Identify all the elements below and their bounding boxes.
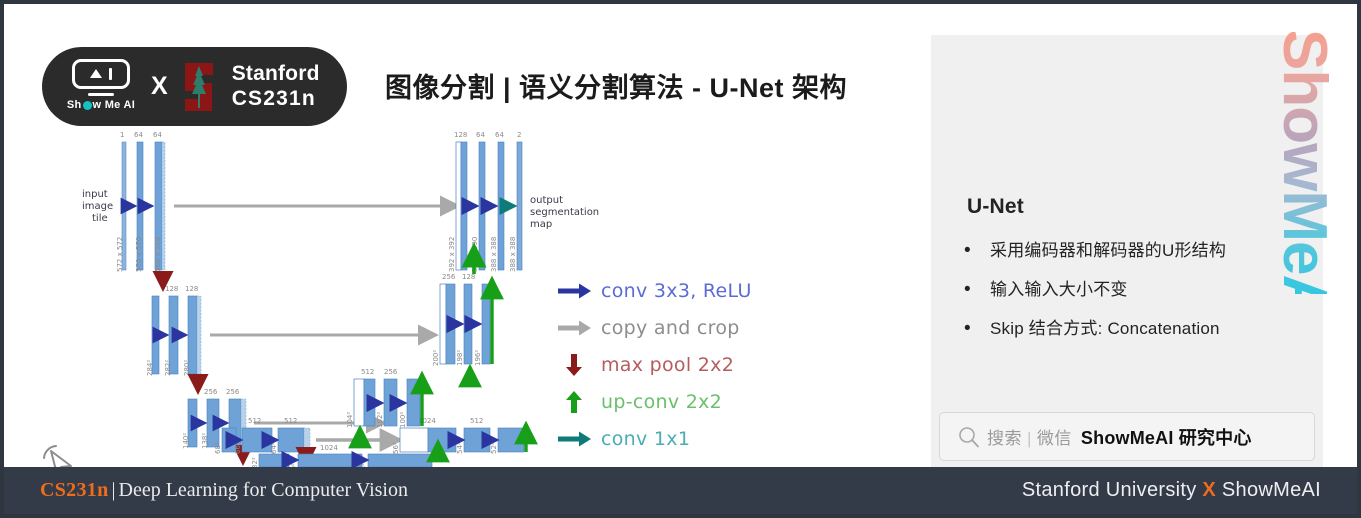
footer-affiliation-x: X — [1202, 479, 1216, 501]
arrow-right-icon — [557, 427, 593, 451]
showmeai-logo-icon: Shw Me AI — [64, 59, 138, 115]
svg-text:198²: 198² — [456, 350, 464, 366]
svg-text:512: 512 — [361, 368, 374, 376]
legend-item-conv1x1: conv 1x1 — [557, 420, 807, 457]
monitor-icon — [72, 59, 130, 89]
svg-text:392 x 392: 392 x 392 — [448, 237, 456, 272]
list-item: • Skip 结合方式: Concatenation — [964, 318, 1304, 340]
svg-text:256: 256 — [442, 273, 456, 281]
monitor-stand-icon — [88, 93, 114, 96]
svg-text:100²: 100² — [399, 412, 407, 428]
legend-item-copycrop: copy and crop — [557, 309, 807, 346]
footer-affiliation-left: Stanford University — [1022, 479, 1197, 501]
partner-line-1: Stanford — [232, 62, 320, 87]
svg-text:56²: 56² — [392, 442, 400, 454]
stanford-tree-logo-icon — [179, 58, 219, 116]
panel-heading: U-Net — [967, 195, 1024, 219]
diagram-legend: conv 3x3, ReLU copy and crop max pool 2x… — [557, 272, 807, 457]
svg-text:64: 64 — [495, 131, 504, 139]
footer-affiliation-right: ShowMeAI — [1222, 479, 1321, 501]
svg-text:output: output — [530, 195, 563, 206]
svg-text:54²: 54² — [456, 442, 464, 454]
search-bar[interactable]: 搜索|微信 ShowMeAI 研究中心 — [939, 412, 1315, 461]
bar-icon — [109, 68, 112, 80]
svg-text:104²: 104² — [346, 412, 354, 428]
svg-text:388 x 388: 388 x 388 — [490, 237, 498, 272]
svg-text:2: 2 — [517, 131, 521, 139]
bullet-icon: • — [964, 318, 990, 340]
partner-line-2: CS231n — [232, 87, 320, 112]
list-item: • 采用编码器和解码器的U形结构 — [964, 240, 1304, 262]
search-icon — [958, 426, 980, 448]
caret-up-icon — [90, 69, 102, 78]
legend-item-conv3x3: conv 3x3, ReLU — [557, 272, 807, 309]
panel-bullet-list: • 采用编码器和解码器的U形结构 • 输入输入大小不变 • Skip 结合方式:… — [964, 240, 1304, 357]
search-brand-label: ShowMeAI 研究中心 — [1081, 424, 1252, 450]
legend-item-maxpool: max pool 2x2 — [557, 346, 807, 383]
footer-course-code: CS231n — [40, 479, 109, 501]
showmeai-wordmark: Shw Me AI — [67, 99, 135, 111]
legend-label-copycrop: copy and crop — [601, 317, 740, 339]
legend-label-maxpool: max pool 2x2 — [601, 354, 734, 376]
svg-text:512: 512 — [470, 417, 483, 425]
footer-course: CS231n|Deep Learning for Computer Vision — [40, 479, 408, 502]
slide-footer: CS231n|Deep Learning for Computer Vision… — [4, 467, 1357, 514]
slide-root: Shw Me AI X Stanford CS231n 图像分割 | 语义分割算… — [0, 0, 1361, 518]
search-placeholder: 搜索|微信 — [987, 424, 1072, 449]
partner-name: Stanford CS231n — [232, 62, 320, 112]
legend-item-upconv: up-conv 2x2 — [557, 383, 807, 420]
svg-text:52²: 52² — [490, 442, 498, 454]
svg-text:map: map — [530, 219, 552, 230]
legend-label-conv1x1: conv 1x1 — [601, 428, 690, 450]
svg-text:64: 64 — [476, 131, 485, 139]
legend-label-conv3x3: conv 3x3, ReLU — [601, 280, 752, 302]
svg-text:200²: 200² — [432, 350, 440, 366]
svg-text:256: 256 — [384, 368, 398, 376]
pill-x-separator: X — [151, 72, 168, 101]
arrow-down-icon — [557, 353, 593, 377]
search-separator: | — [1027, 429, 1032, 448]
page-title: 图像分割 | 语义分割算法 - U-Net 架构 — [385, 66, 847, 105]
arrow-right-icon — [557, 316, 593, 340]
footer-affiliation: Stanford University X ShowMeAI — [1022, 479, 1321, 502]
list-item: • 输入输入大小不变 — [964, 279, 1304, 301]
arrow-right-icon — [557, 279, 593, 303]
svg-text:128: 128 — [454, 131, 467, 139]
bullet-text: 输入输入大小不变 — [990, 279, 1128, 301]
svg-text:128: 128 — [462, 273, 475, 281]
svg-text:388 x 388: 388 x 388 — [509, 237, 517, 272]
svg-text:196²: 196² — [474, 350, 482, 366]
bullet-icon: • — [964, 279, 990, 301]
bullet-icon: • — [964, 240, 990, 262]
search-channel: 微信 — [1037, 429, 1072, 448]
footer-course-title: Deep Learning for Computer Vision — [119, 479, 408, 501]
info-panel: U-Net • 采用编码器和解码器的U形结构 • 输入输入大小不变 • Skip… — [931, 35, 1323, 470]
svg-text:102²: 102² — [376, 412, 384, 428]
svg-text:1024: 1024 — [320, 444, 338, 452]
bullet-text: 采用编码器和解码器的U形结构 — [990, 240, 1226, 262]
search-placeholder-text: 搜索 — [987, 429, 1022, 448]
arrow-up-icon — [557, 390, 593, 414]
footer-separator: | — [112, 479, 116, 501]
dot-icon — [83, 101, 92, 110]
brand-logo-pill[interactable]: Shw Me AI X Stanford CS231n — [42, 47, 347, 126]
bullet-text: Skip 结合方式: Concatenation — [990, 318, 1220, 340]
legend-label-upconv: up-conv 2x2 — [601, 391, 722, 413]
svg-text:segmentation: segmentation — [530, 207, 599, 218]
